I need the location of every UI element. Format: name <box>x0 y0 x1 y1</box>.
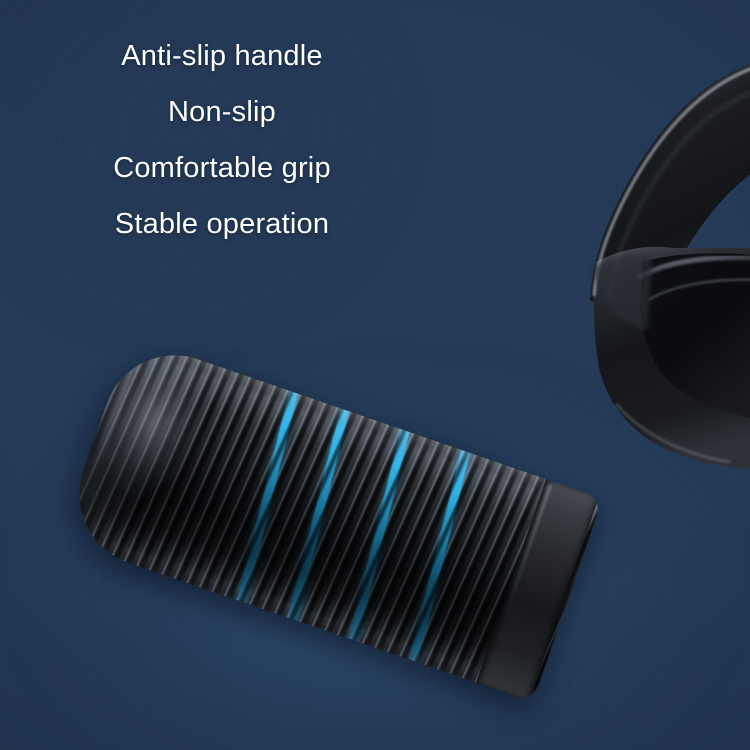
copy-line-2: Non-slip <box>52 98 392 127</box>
copy-line-3: Comfortable grip <box>52 154 392 183</box>
copy-line-1: Anti-slip handle <box>52 42 392 71</box>
marketing-copy-block: Anti-slip handle Non-slip Comfortable gr… <box>52 42 392 239</box>
copy-line-4: Stable operation <box>52 210 392 239</box>
product-image-canvas: Anti-slip handle Non-slip Comfortable gr… <box>0 0 750 750</box>
